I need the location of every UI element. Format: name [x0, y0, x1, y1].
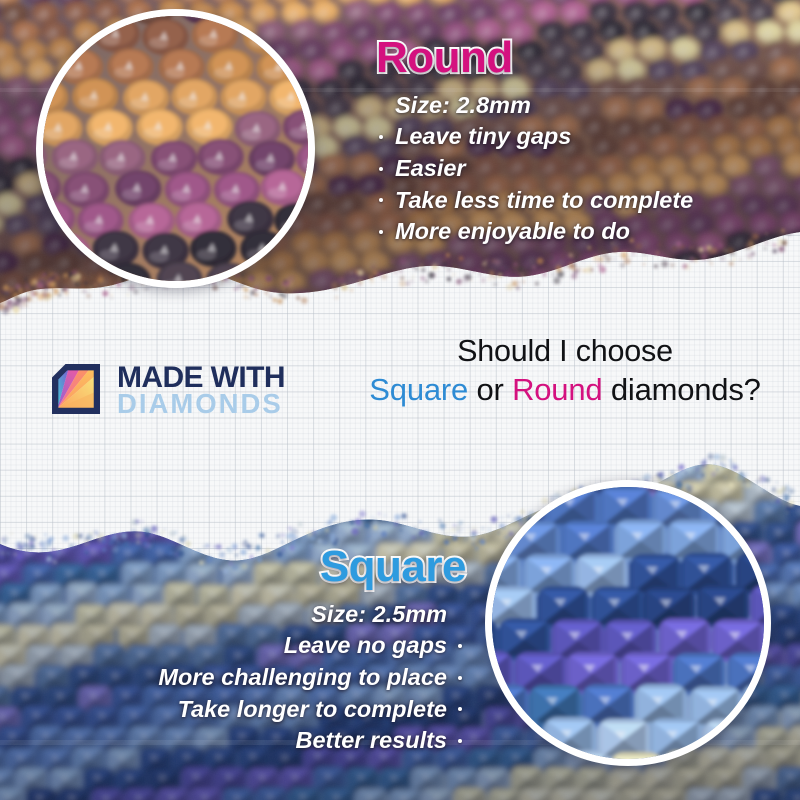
round-info-panel: Round Size: 2.8mmLeave tiny gapsEasierTa…: [376, 36, 788, 248]
logo-line-made-with: MADE WITH: [117, 364, 285, 391]
round-feature-list: Size: 2.8mmLeave tiny gapsEasierTake les…: [376, 90, 788, 248]
round-feature-item: Easier: [376, 153, 788, 185]
square-feature-item-label: Leave no gaps: [284, 632, 447, 658]
question-line-2: Square or Round diamonds?: [330, 370, 800, 410]
square-info-panel: Square Size: 2.5mmLeave no gapsMore chal…: [14, 545, 466, 757]
question-word-square: Square: [369, 372, 468, 407]
round-feature-item-label: Easier: [395, 155, 466, 181]
round-feature-item-label: Take less time to complete: [395, 187, 693, 213]
square-diamonds-closeup-circle: [485, 480, 771, 766]
square-feature-item: Size: 2.5mm: [14, 599, 466, 631]
square-feature-item: Leave no gaps: [14, 630, 466, 662]
square-heading: Square: [14, 545, 466, 590]
round-diamonds-closeup-circle: [36, 9, 315, 288]
square-feature-item: Take longer to complete: [14, 694, 466, 726]
round-feature-item: More enjoyable to do: [376, 216, 788, 248]
round-feature-item: Take less time to complete: [376, 185, 788, 217]
round-heading: Round: [376, 36, 788, 81]
question-line-1: Should I choose: [330, 333, 800, 370]
diamond-logo-icon: [48, 362, 104, 418]
square-feature-item-label: Take longer to complete: [178, 696, 447, 722]
logo-line-diamonds: DIAMONDS: [117, 392, 285, 417]
brand-logo[interactable]: MADE WITH DIAMONDS: [48, 362, 285, 418]
square-feature-item: Better results: [14, 725, 466, 757]
square-feature-list: Size: 2.5mmLeave no gapsMore challenging…: [14, 599, 466, 757]
round-feature-item-label: Leave tiny gaps: [395, 123, 571, 149]
infographic-canvas: Round Size: 2.8mmLeave tiny gapsEasierTa…: [0, 0, 800, 800]
brand-logo-wordmark: MADE WITH DIAMONDS: [117, 364, 285, 417]
question-block: Should I choose Square or Round diamonds…: [330, 333, 800, 410]
square-feature-item-label: Size: 2.5mm: [311, 601, 447, 627]
question-word-tail: diamonds?: [602, 372, 760, 407]
round-feature-item: Leave tiny gaps: [376, 121, 788, 153]
question-word-or: or: [468, 372, 512, 407]
round-feature-item: Size: 2.8mm: [376, 90, 788, 122]
square-feature-item-label: Better results: [296, 727, 448, 753]
round-feature-item-label: More enjoyable to do: [395, 218, 630, 244]
question-word-round: Round: [512, 372, 602, 407]
square-feature-item: More challenging to place: [14, 662, 466, 694]
round-feature-item-label: Size: 2.8mm: [395, 92, 531, 118]
square-feature-item-label: More challenging to place: [158, 664, 447, 690]
